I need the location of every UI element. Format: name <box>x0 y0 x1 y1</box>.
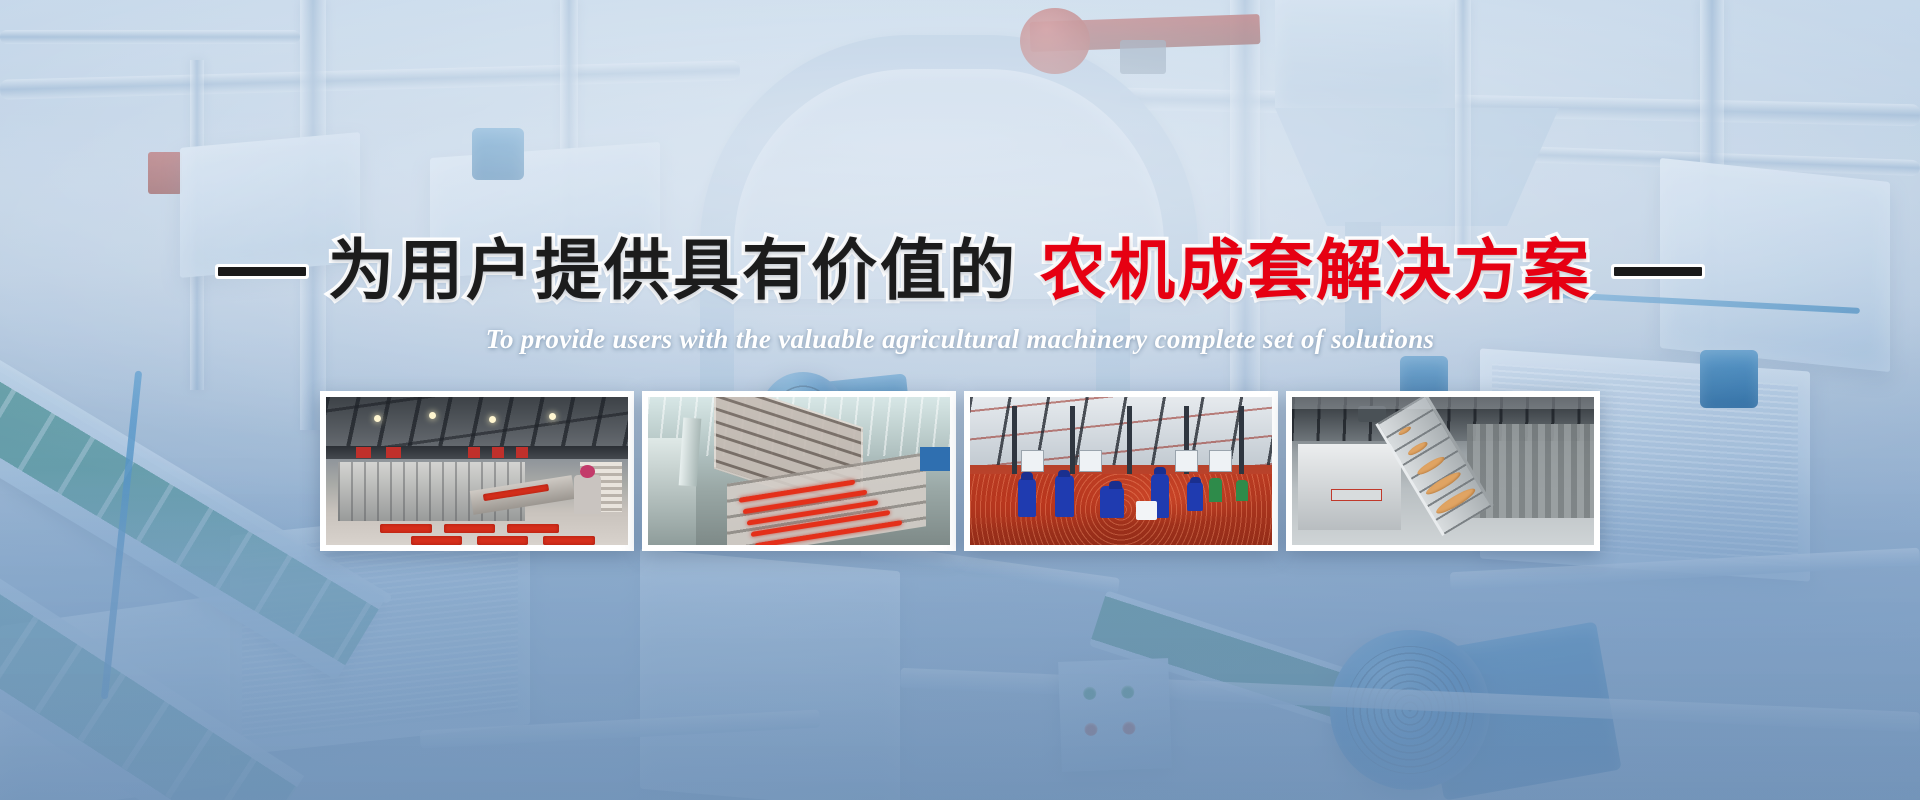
thumbnail-1-image <box>326 397 628 545</box>
goji-tray <box>380 524 431 533</box>
thumbnail-strip <box>320 391 1600 551</box>
window <box>1175 450 1198 471</box>
banner-content: 为用户提供具有价值的 农机成套解决方案 To provide users wit… <box>0 0 1920 800</box>
thumbnail-2-image <box>648 397 950 545</box>
left-dash-ornament <box>218 267 306 276</box>
headline-row: 为用户提供具有价值的 农机成套解决方案 <box>218 238 1702 304</box>
worker-green-uniform <box>1236 480 1248 501</box>
red-sign-jie <box>386 447 401 457</box>
top-light-strip <box>1292 397 1594 409</box>
headline-red-text: 农机成套解决方案 <box>1040 238 1592 304</box>
headline-dark-text: 为用户提供具有价值的 <box>328 238 1018 304</box>
thumbnail-2[interactable] <box>642 391 956 551</box>
processing-cabinet <box>1298 444 1401 530</box>
window <box>1079 450 1102 471</box>
worker-cap <box>1190 477 1201 483</box>
thumbnail-3-image <box>970 397 1272 545</box>
worker-blue-uniform <box>1055 475 1075 516</box>
thumbnail-4-image <box>1292 397 1594 545</box>
goji-tray <box>477 536 528 545</box>
red-sign-zhi <box>492 447 504 457</box>
worker-blue-uniform <box>1187 481 1202 511</box>
goji-tray <box>543 536 594 545</box>
worker-cap <box>1021 472 1033 479</box>
window <box>1209 450 1232 471</box>
ceiling-lamp-icon <box>429 412 436 419</box>
worker-cap <box>1154 467 1166 474</box>
red-sign-tuan <box>356 447 371 457</box>
worker-cap <box>1109 481 1123 488</box>
thumbnail-4[interactable] <box>1286 391 1600 551</box>
goji-tray <box>507 524 558 533</box>
factory-worker <box>574 475 601 513</box>
thumbnail-1[interactable] <box>320 391 634 551</box>
white-sack <box>1136 501 1157 520</box>
red-sign-liang <box>516 447 528 457</box>
window <box>1021 450 1044 471</box>
worker-blue-uniform <box>1018 478 1036 516</box>
right-dash-ornament <box>1614 267 1702 276</box>
goji-tray <box>444 524 495 533</box>
worker-blue-uniform <box>1100 486 1124 519</box>
worker-green-uniform <box>1209 478 1223 502</box>
vertical-duct <box>679 417 702 486</box>
worker-cap <box>1058 470 1070 477</box>
hero-banner: 为用户提供具有价值的 农机成套解决方案 To provide users wit… <box>0 0 1920 800</box>
goji-tray <box>411 536 462 545</box>
red-produce-row <box>738 480 854 503</box>
thumbnail-3[interactable] <box>964 391 1278 551</box>
equipment-label <box>1331 489 1381 501</box>
red-sign-quan <box>468 447 480 457</box>
blue-wall-panel <box>920 447 950 471</box>
headline-subtitle: To provide users with the valuable agric… <box>486 324 1435 355</box>
